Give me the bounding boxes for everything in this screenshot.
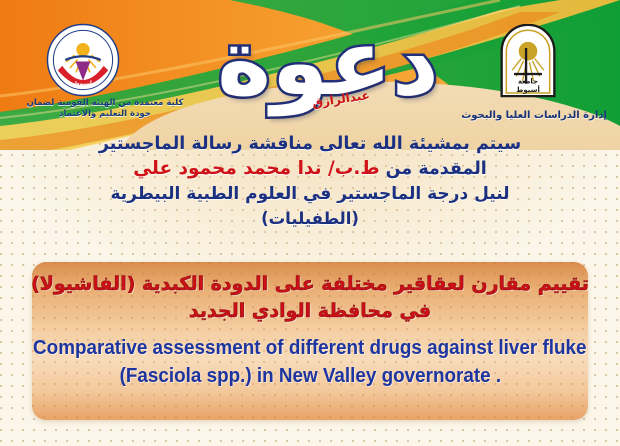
thesis-title-arabic-line-2: في محافظة الوادي الجديد bbox=[189, 298, 431, 325]
graduate-studies-caption: إدارة الدراسات العليا والبحوث bbox=[452, 110, 616, 123]
thesis-title-english-line-2: (Fasciola spp.) in New Valley governorat… bbox=[119, 362, 501, 390]
faculty-of-veterinary-medicine-logo: أسيوط bbox=[46, 23, 120, 97]
thesis-title-panel: تقييم مقارن لعقاقير مختلفة على الدودة ال… bbox=[32, 262, 588, 420]
announcement-line-4: (الطفيليات) bbox=[18, 207, 602, 231]
announcement-line-2: المقدمة من ط.ب/ ندا محمد محمود علي bbox=[18, 156, 602, 182]
invitation-poster: أسيوط كلية معتمدة من الهيئة القومية لضما… bbox=[0, 0, 620, 446]
svg-text:جامعة: جامعة bbox=[518, 78, 538, 86]
announcement-line-3: لنيل درجة الماجستير في العلوم الطبية الب… bbox=[18, 182, 602, 207]
faculty-accreditation-caption: كلية معتمدة من الهيئة القومية لضمان جودة… bbox=[22, 98, 188, 119]
thesis-title-english-line-1: Comparative assessment of different drug… bbox=[33, 334, 586, 362]
svg-text:أسيوط: أسيوط bbox=[516, 85, 540, 94]
thesis-title-arabic-line-1: تقييم مقارن لعقاقير مختلفة على الدودة ال… bbox=[32, 271, 588, 298]
announcement-line-2-prefix: المقدمة من bbox=[386, 159, 487, 179]
candidate-name: ط.ب/ ندا محمد محمود علي bbox=[133, 158, 379, 179]
svg-text:أسيوط: أسيوط bbox=[74, 80, 92, 87]
announcement-block: سيتم بمشيئة الله تعالى مناقشة رسالة الما… bbox=[18, 132, 602, 231]
assiut-university-logo: جامعة أسيوط bbox=[497, 24, 559, 100]
announcement-line-1: سيتم بمشيئة الله تعالى مناقشة رسالة الما… bbox=[18, 132, 602, 156]
